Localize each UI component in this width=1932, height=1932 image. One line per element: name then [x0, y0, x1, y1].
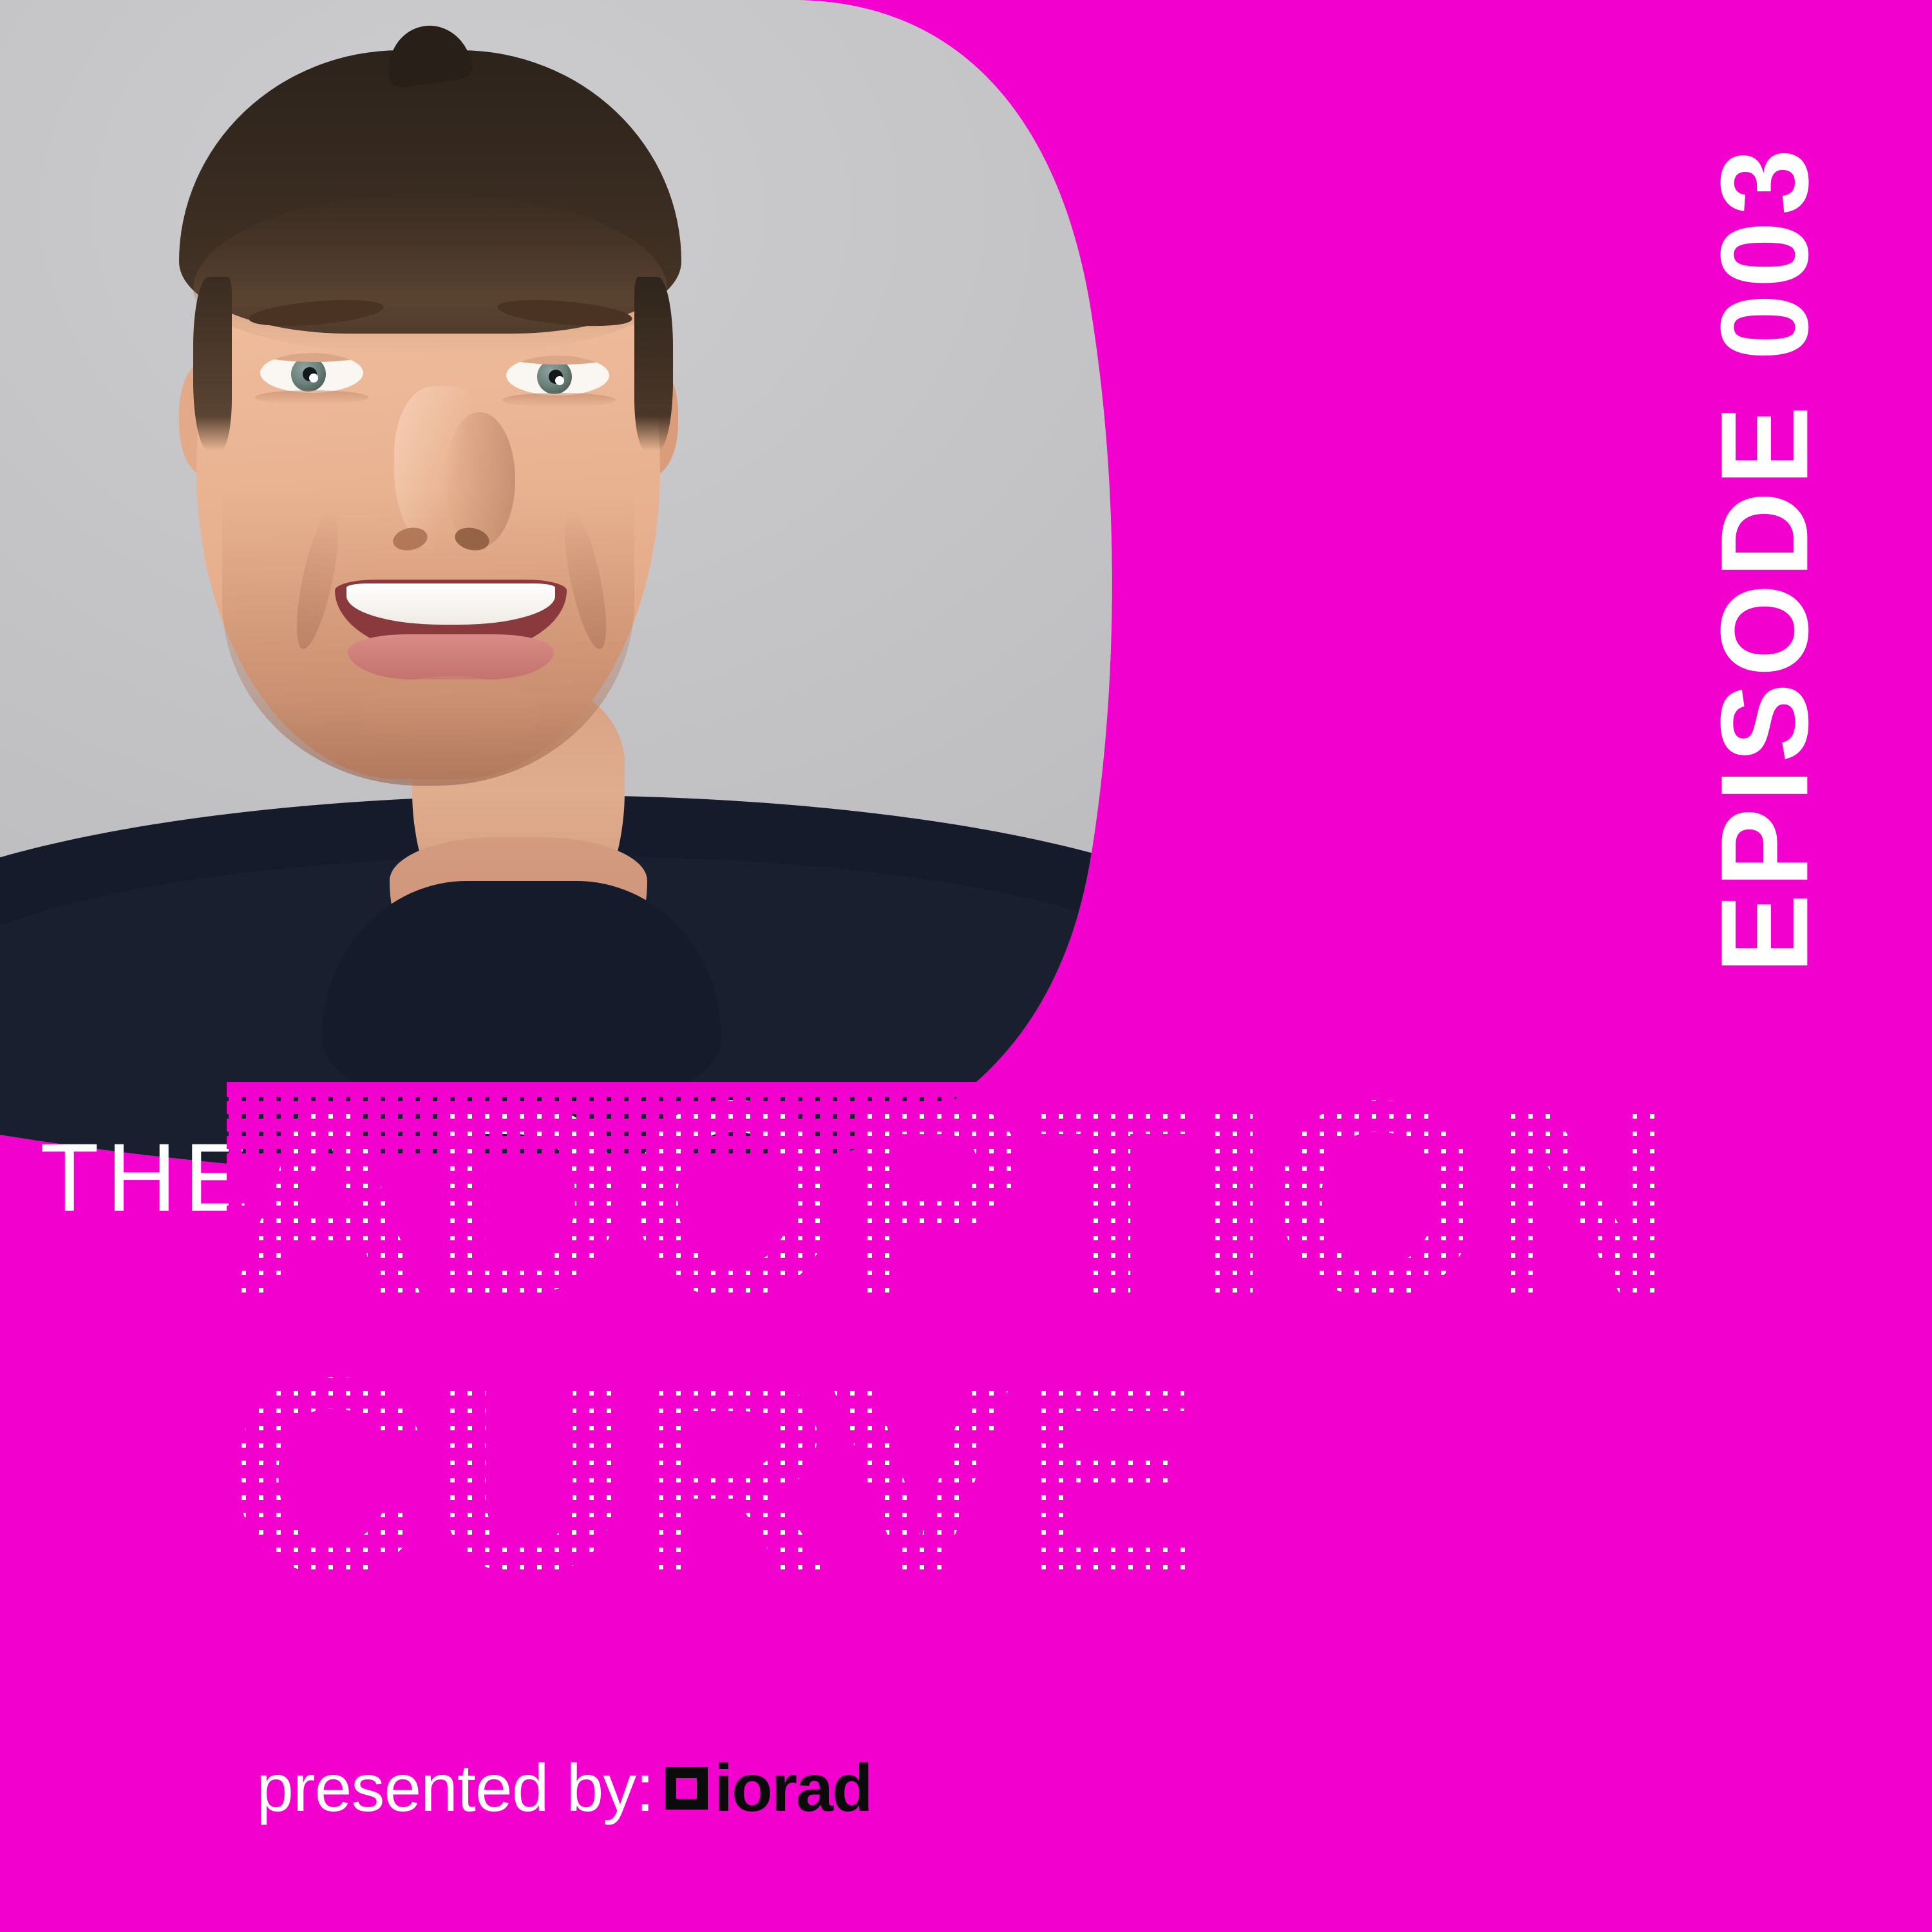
- podcast-cover-art: EPISODE 003 THE ADOPTION CURVE presented…: [0, 0, 1932, 1932]
- lower-lip: [348, 634, 554, 679]
- eyelid-left: [260, 353, 363, 362]
- eye-glint-left: [309, 374, 318, 383]
- undereye-right: [502, 393, 616, 407]
- title-word-curve: CURVE: [227, 1359, 1202, 1593]
- presented-by-label: presented by:: [256, 1755, 654, 1822]
- title-word-curve-text: CURVE: [227, 1359, 1202, 1593]
- title-prefix: THE: [40, 1122, 256, 1233]
- sideburn-right: [634, 277, 673, 451]
- eye-right: [506, 355, 609, 395]
- iris-left: [291, 357, 326, 392]
- nose-shadow: [444, 412, 515, 547]
- title-word-adoption: ADOPTION: [227, 1082, 1685, 1316]
- host-portrait: [0, 0, 1121, 1166]
- square-outline-icon: [665, 1767, 708, 1810]
- eye-glint-right: [555, 376, 564, 385]
- eyelid-right: [506, 355, 609, 365]
- iorad-wordmark: iorad: [714, 1755, 871, 1822]
- sideburn-left: [193, 277, 232, 451]
- episode-number-label: EPISODE 003: [1649, 97, 1880, 998]
- pupil-right: [549, 370, 563, 384]
- teeth: [346, 583, 555, 625]
- title-word-adoption-text: ADOPTION: [227, 1082, 1685, 1316]
- iorad-logo[interactable]: iorad: [665, 1755, 871, 1822]
- pupil-left: [303, 367, 317, 381]
- presented-by: presented by: iorad: [256, 1755, 871, 1822]
- episode-text: EPISODE 003: [1703, 143, 1827, 974]
- chin: [361, 676, 541, 753]
- undereye-left: [255, 390, 368, 404]
- portrait-image: [0, 0, 1121, 1166]
- iris-right: [537, 359, 572, 394]
- eye-left: [260, 353, 363, 393]
